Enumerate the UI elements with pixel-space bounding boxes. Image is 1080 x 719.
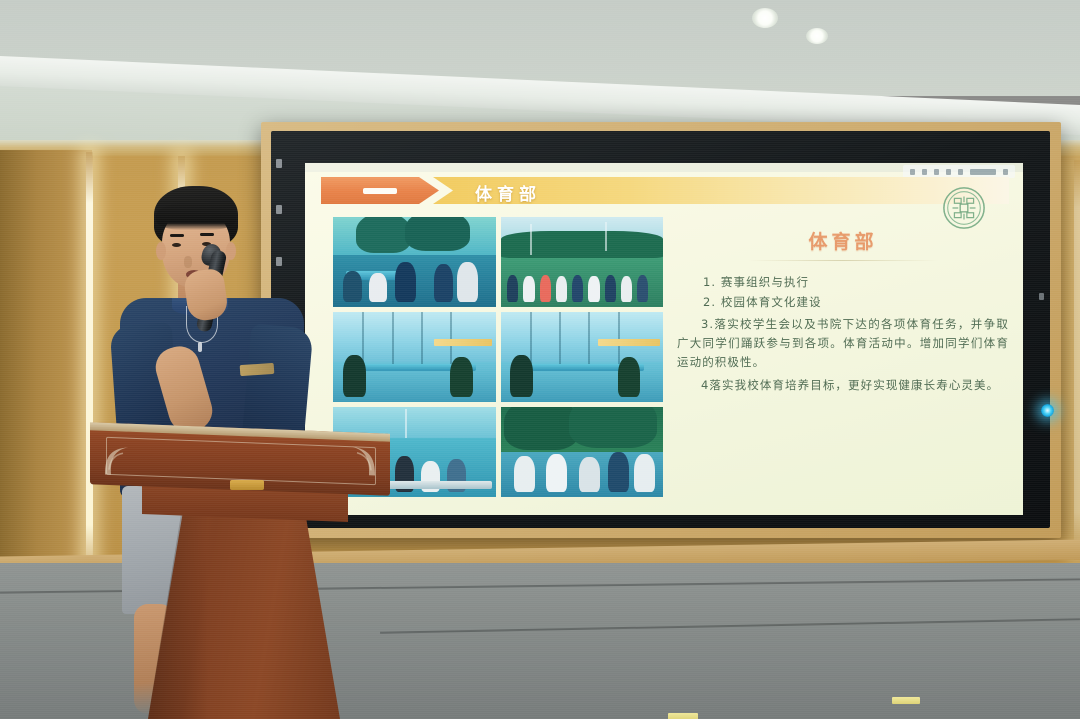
- title-underline: [748, 260, 938, 261]
- photo-basketball-court: [501, 407, 664, 497]
- wall-led-strip: [1074, 160, 1080, 560]
- photo-mullion: [588, 312, 590, 364]
- photo-player: [510, 355, 533, 396]
- slide-text-column: 体育部 1. 赛事组织与执行 2. 校园体育文化建设 3.落实校学生会以及书院下…: [677, 209, 1009, 501]
- photo-mullion: [559, 312, 561, 364]
- photo-player: [343, 355, 366, 396]
- photo-tree: [504, 407, 579, 450]
- photo-wall-banner: [598, 339, 660, 346]
- photo-pole: [605, 222, 607, 251]
- left-wall-panel: [0, 150, 92, 580]
- photo-tree: [405, 217, 470, 251]
- section-title-band: 体育部: [433, 177, 1009, 204]
- presenter-fringe: [156, 202, 236, 230]
- screenshot-root: 体育部: [0, 0, 1080, 719]
- presentation-slide[interactable]: 体育部: [305, 163, 1023, 515]
- list-item: 2. 校园体育文化建设: [677, 294, 1009, 311]
- section-index-chevron: [321, 177, 439, 204]
- pen-icon[interactable]: [922, 169, 927, 175]
- section-index-mark: [363, 188, 397, 194]
- section-title-label: 体育部: [475, 180, 541, 205]
- presenter-ear: [156, 242, 166, 260]
- eraser-icon[interactable]: [946, 169, 951, 175]
- floor-seam: [380, 618, 1080, 633]
- photo-person: [507, 275, 518, 302]
- photo-table-tennis-match: [333, 217, 496, 307]
- power-indicator: [1041, 404, 1054, 417]
- recessed-downlight: [752, 8, 778, 28]
- photo-person: [556, 276, 567, 301]
- photo-tree: [356, 217, 411, 253]
- presenter-brow: [170, 234, 184, 237]
- podium-column-shadow: [148, 514, 208, 719]
- slide-paragraph: 4落实我校体育培养目标，更好实现健康长寿心灵美。: [677, 376, 1009, 395]
- presenter-brow: [200, 233, 214, 236]
- presenter-eye: [172, 243, 181, 247]
- slide-title: 体育部: [677, 227, 1009, 254]
- photo-wall-banner: [434, 339, 493, 346]
- photo-player: [579, 457, 600, 491]
- cursor-icon[interactable]: [910, 169, 915, 175]
- wooden-podium: [90, 428, 390, 719]
- photo-mullion: [362, 312, 364, 364]
- photo-person: [523, 276, 534, 301]
- photo-person: [572, 275, 583, 302]
- shirt-logo: [240, 363, 275, 376]
- photo-campus-run-crowd: [501, 217, 664, 307]
- photo-player: [608, 452, 629, 492]
- laser-pointer-icon[interactable]: [958, 169, 963, 175]
- corner-scroll-ornament: [348, 443, 378, 478]
- photo-player: [514, 456, 535, 492]
- podium-latch: [230, 480, 264, 490]
- highlighter-icon[interactable]: [934, 169, 939, 175]
- photo-mullion: [530, 312, 532, 364]
- photo-person: [369, 273, 387, 302]
- list-item: 1. 赛事组织与执行: [677, 274, 1009, 291]
- photo-person: [540, 275, 551, 302]
- photo-pole: [530, 224, 532, 255]
- slide-paragraph: 3.落实校学生会以及书院下达的各项体育任务，并争取广大同学们踊跃参与到各项。体育…: [677, 315, 1009, 372]
- photo-player: [450, 357, 473, 397]
- photo-table-tennis-indoor-right: [501, 312, 664, 402]
- photo-person: [343, 271, 363, 302]
- photo-person: [588, 276, 599, 301]
- presenter-ear: [226, 242, 236, 260]
- photo-mullion: [392, 312, 394, 364]
- photo-table-tennis-indoor-left: [333, 312, 496, 402]
- more-icon[interactable]: [1003, 169, 1008, 175]
- photo-mullion: [421, 312, 423, 364]
- photo-person: [457, 262, 478, 302]
- slide-bullet-list: 1. 赛事组织与执行 2. 校园体育文化建设: [677, 274, 1009, 311]
- photo-pole: [405, 409, 407, 438]
- slide-header-banner: 体育部: [321, 177, 1009, 204]
- corner-scroll-ornament: [102, 443, 132, 478]
- floor-tape-marker: [892, 697, 920, 704]
- slide-counter[interactable]: [970, 169, 996, 175]
- photo-player: [546, 454, 567, 492]
- bezel-marker: [276, 159, 282, 168]
- school-emblem-seal: [941, 185, 987, 231]
- floor-tape-marker: [668, 713, 698, 719]
- photo-treeline: [501, 231, 664, 258]
- photo-person: [621, 276, 632, 301]
- photo-player: [618, 357, 641, 397]
- photo-person: [395, 262, 416, 302]
- presenter-nose: [184, 256, 192, 268]
- photo-player: [634, 454, 655, 492]
- necklace-pendant: [198, 342, 202, 352]
- photo-person: [434, 264, 454, 302]
- photo-person: [637, 275, 648, 302]
- bezel-marker: [1039, 293, 1044, 300]
- recessed-downlight: [806, 28, 828, 44]
- photo-person: [605, 275, 616, 302]
- photo-tree: [569, 407, 657, 448]
